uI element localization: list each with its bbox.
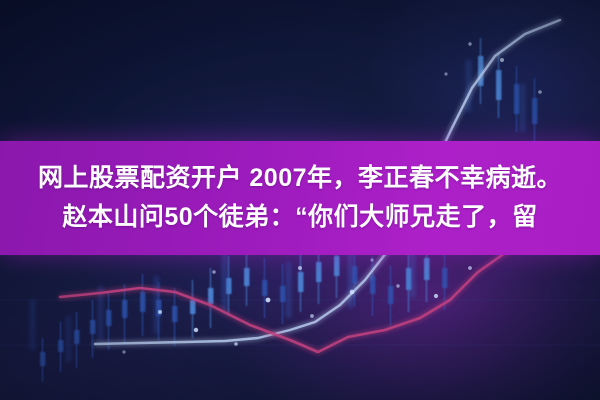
- headline-line-1: 网上股票配资开户 2007年，李正春不幸病逝。: [38, 166, 562, 191]
- headline-line-2: 赵本山问50个徒弟：“你们大师兄走了，留: [62, 205, 537, 230]
- banner-image: 网上股票配资开户 2007年，李正春不幸病逝。 赵本山问50个徒弟：“你们大师兄…: [0, 0, 600, 400]
- headline-banner: 网上股票配资开户 2007年，李正春不幸病逝。 赵本山问50个徒弟：“你们大师兄…: [0, 141, 600, 255]
